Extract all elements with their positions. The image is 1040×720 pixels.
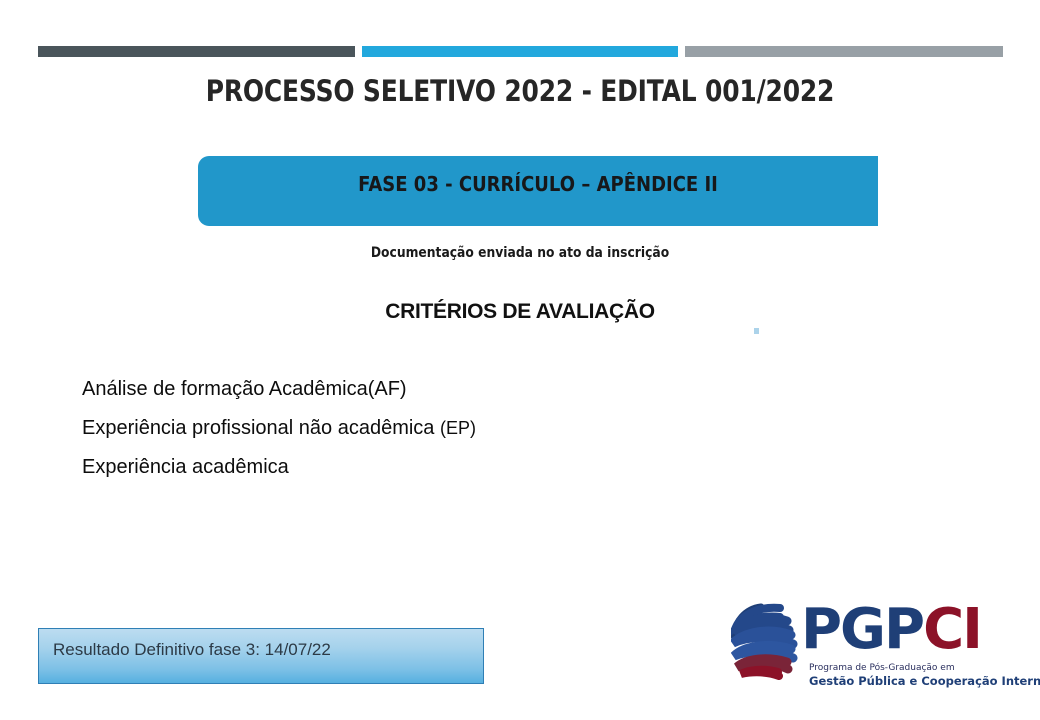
stray-dot-artifact — [754, 328, 759, 334]
logo-tagline-line2: Gestão Pública e Cooperação Internaciona… — [809, 674, 1040, 688]
phase-banner: FASE 03 - CURRÍCULO – APÊNDICE II — [198, 156, 878, 226]
subtitle-text: Documentação enviada no ato da inscrição — [62, 245, 977, 261]
page-title: PROCESSO SELETIVO 2022 - EDITAL 001/2022 — [73, 74, 967, 108]
result-callout-box: Resultado Definitivo fase 3: 14/07/22 — [38, 628, 484, 684]
list-item: Análise de formação Acadêmica(AF) — [82, 370, 842, 409]
criteria-heading: CRITÉRIOS DE AVALIAÇÃO — [0, 300, 1040, 324]
globe-icon — [731, 602, 807, 680]
logo-wordmark: PGPCI — [801, 600, 981, 660]
list-item: Experiência profissional não acadêmica (… — [82, 409, 842, 448]
logo-wordmark-accent: CI — [923, 597, 981, 662]
pgpci-logo: PGPCI Programa de Pós-Graduação em Gestã… — [731, 600, 976, 692]
header-rule-segment-dark — [38, 46, 355, 57]
logo-tagline-line1: Programa de Pós-Graduação em — [809, 663, 955, 673]
criteria-item-text: Experiência acadêmica — [82, 456, 289, 478]
result-callout-text: Resultado Definitivo fase 3: 14/07/22 — [53, 640, 331, 660]
phase-banner-label: FASE 03 - CURRÍCULO – APÊNDICE II — [232, 172, 844, 196]
list-item: Experiência acadêmica — [82, 448, 842, 487]
criteria-item-text: Análise de formação Acadêmica(AF) — [82, 378, 407, 400]
criteria-item-suffix: (EP) — [440, 418, 476, 438]
slide-canvas: PROCESSO SELETIVO 2022 - EDITAL 001/2022… — [0, 0, 1040, 720]
logo-wordmark-primary: PGP — [801, 597, 923, 662]
criteria-list: Análise de formação Acadêmica(AF) Experi… — [82, 370, 842, 487]
header-rule-segment-cyan — [362, 46, 678, 57]
criteria-item-text: Experiência profissional não acadêmica — [82, 417, 440, 439]
header-rule-segment-gray — [685, 46, 1003, 57]
